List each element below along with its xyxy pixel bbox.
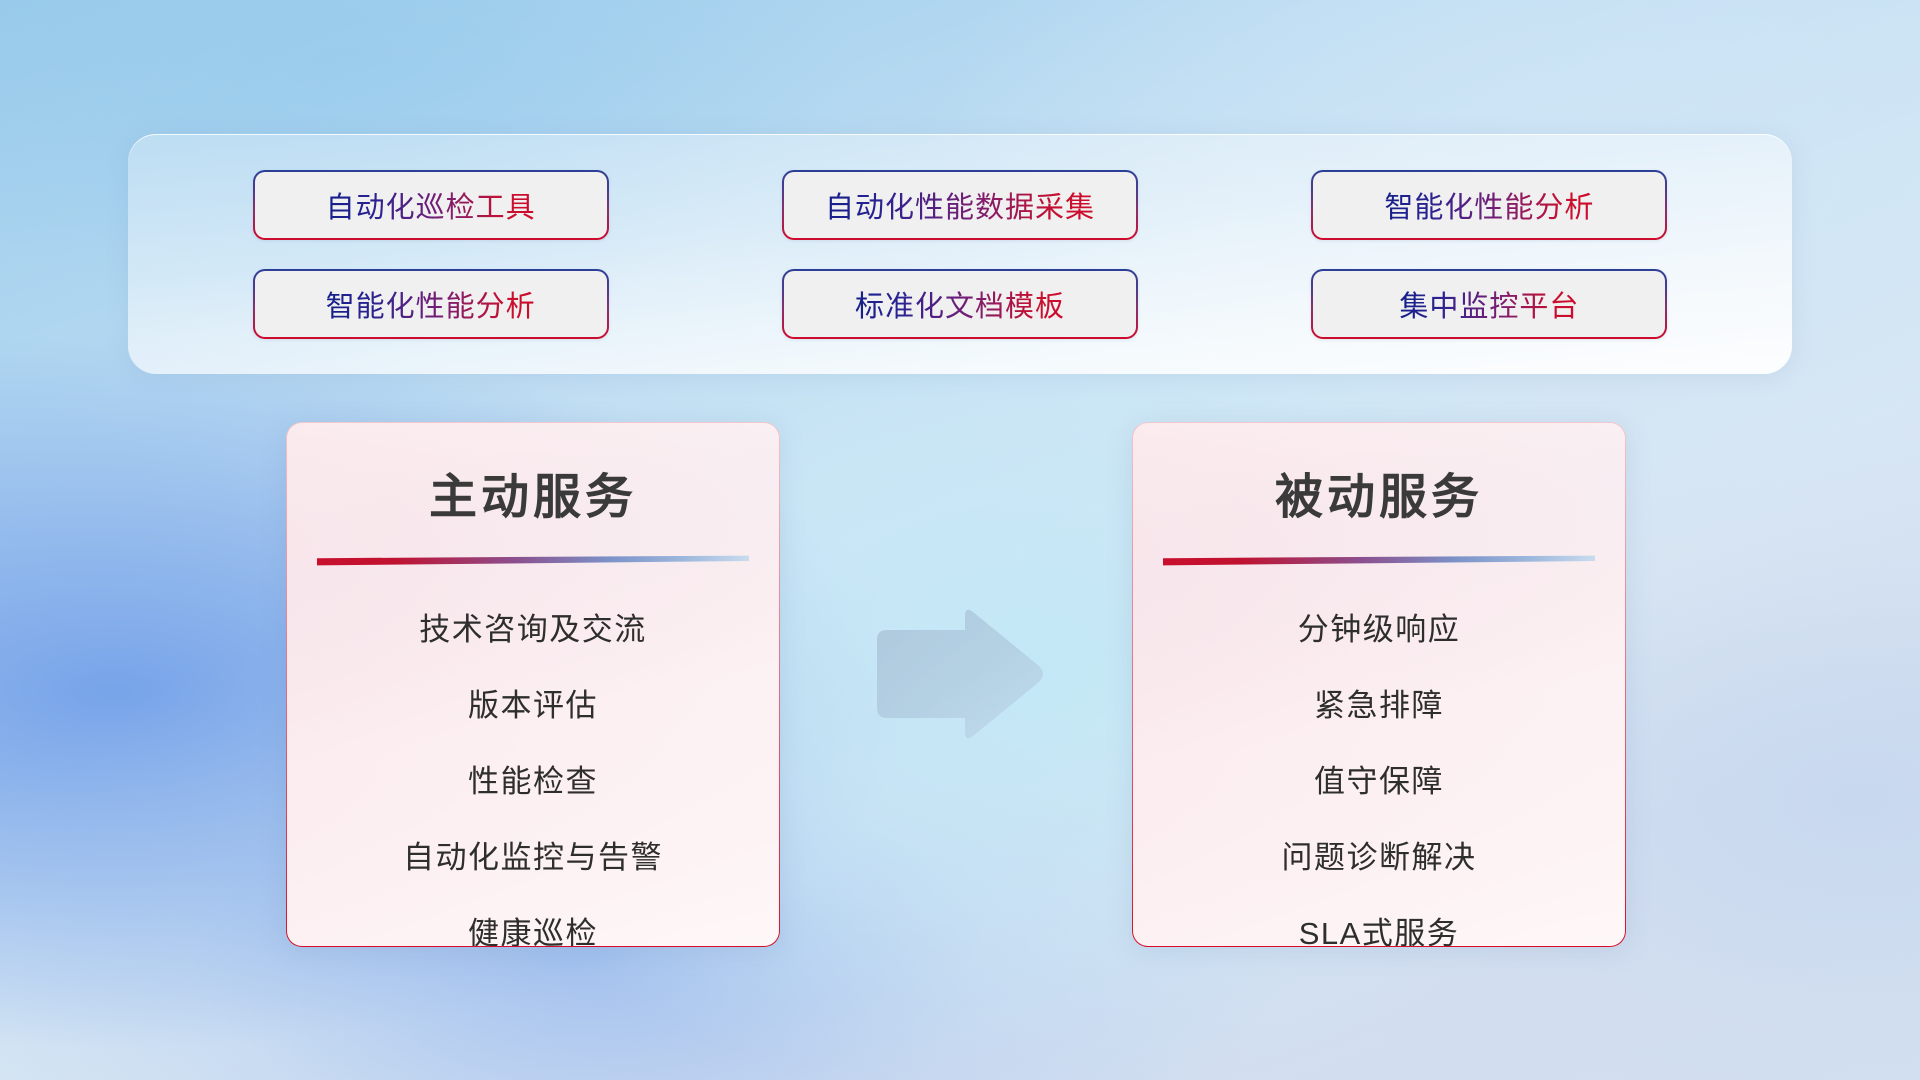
tool-pill-standard-doc-template[interactable]: 标准化文档模板	[782, 269, 1138, 339]
capability-tools-panel: 自动化巡检工具 自动化性能数据采集 智能化性能分析 智能化性能分析 标准化文档模…	[128, 134, 1792, 374]
tool-pill-automation-inspection[interactable]: 自动化巡检工具	[253, 170, 609, 240]
tool-pill-centralized-monitoring-platform[interactable]: 集中监控平台	[1311, 269, 1667, 339]
card-title: 被动服务	[1133, 457, 1625, 527]
list-item: 技术咨询及交流	[419, 604, 647, 649]
tool-pill-label: 自动化巡检工具	[326, 184, 536, 226]
list-item: 自动化监控与告警	[403, 832, 663, 877]
list-item: 性能检查	[468, 756, 598, 801]
list-item: 分钟级响应	[1298, 604, 1461, 649]
list-item: 值守保障	[1314, 756, 1444, 801]
service-card-passive[interactable]: 被动服务 分钟级响应 紧急排障 值守保障	[1132, 422, 1626, 947]
list-item: 健康巡检	[468, 908, 598, 947]
card-title: 主动服务	[287, 457, 779, 527]
list-item: SLA式服务	[1299, 908, 1460, 947]
tool-pill-intelligent-performance-analysis-2[interactable]: 智能化性能分析	[253, 269, 609, 339]
tool-pill-label: 智能化性能分析	[1384, 184, 1594, 226]
tool-pill-performance-data-collection[interactable]: 自动化性能数据采集	[782, 170, 1138, 240]
list-item: 版本评估	[468, 680, 598, 725]
tool-pill-label: 智能化性能分析	[326, 283, 536, 325]
card-title-underline	[317, 555, 749, 566]
tool-pill-label: 自动化性能数据采集	[825, 184, 1095, 226]
diagram-stage: 自动化巡检工具 自动化性能数据采集 智能化性能分析 智能化性能分析 标准化文档模…	[0, 0, 1920, 1080]
tool-pill-label: 集中监控平台	[1399, 283, 1579, 325]
card-item-list: 技术咨询及交流 版本评估 性能检查 自动化监控与告警 健康巡检	[287, 604, 779, 947]
card-item-list: 分钟级响应 紧急排障 值守保障 问题诊断解决 SLA式服务	[1133, 604, 1625, 947]
list-item: 问题诊断解决	[1282, 832, 1477, 877]
service-card-active[interactable]: 主动服务 技术咨询及交流 版本评估 性能检查	[286, 422, 780, 947]
list-item: 紧急排障	[1314, 680, 1444, 725]
tool-pill-intelligent-performance-analysis[interactable]: 智能化性能分析	[1311, 170, 1667, 240]
card-title-underline	[1163, 555, 1595, 566]
tool-pill-label: 标准化文档模板	[855, 283, 1065, 325]
arrow-right-icon	[869, 604, 1049, 744]
